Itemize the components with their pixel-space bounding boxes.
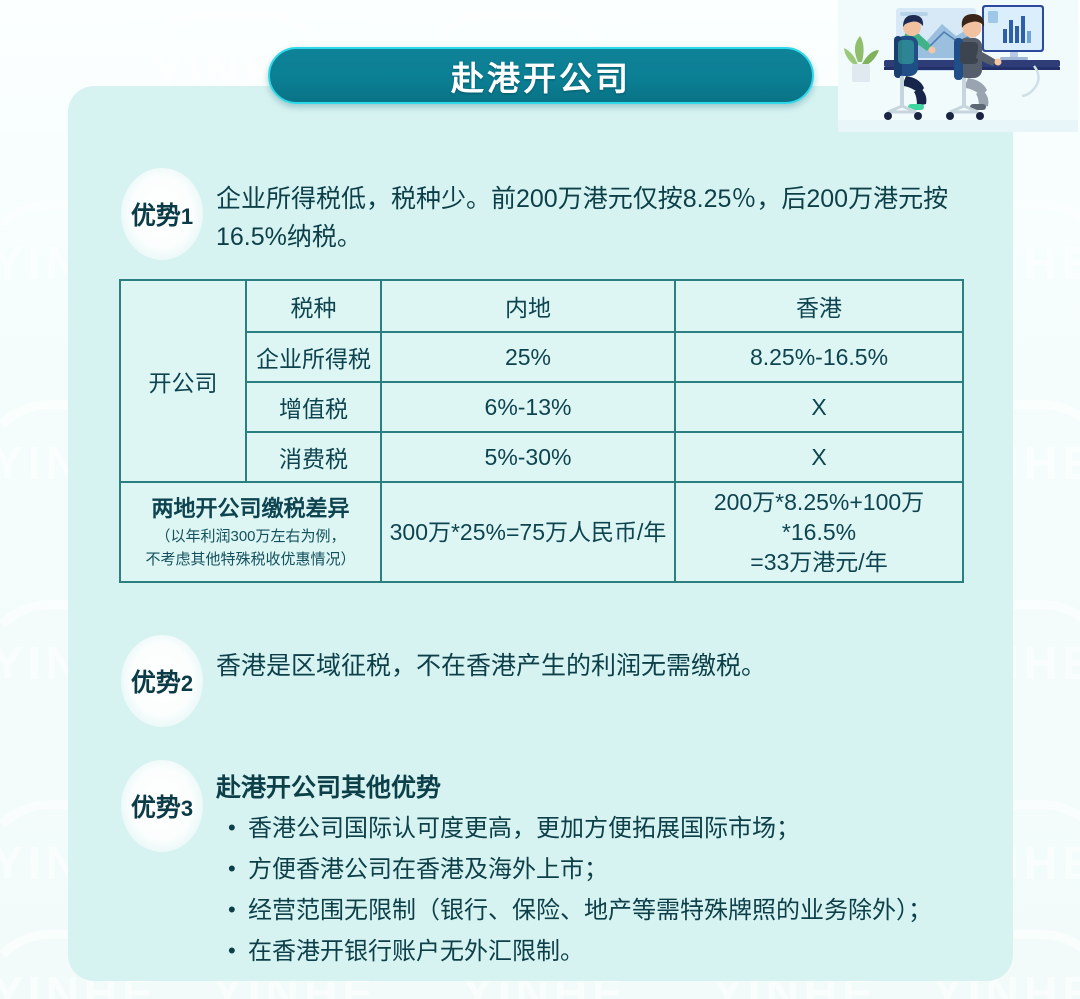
table-row: 企业所得税 25% 8.25%-16.5%: [120, 332, 963, 382]
table-cell-mainland: 25%: [381, 332, 675, 382]
table-cell-tax-type: 增值税: [246, 382, 381, 432]
table-diff-note-line2: 不考虑其他特殊税收优惠情况）: [127, 549, 374, 570]
header-illustration: [838, 0, 1078, 132]
table-diff-hongkong-calc-cell: 200万*8.25%+100万*16.5% =33万港元/年: [675, 482, 963, 582]
advantage-badge-word-3: 优势: [131, 794, 181, 822]
table-diff-label-cell: 两地开公司缴税差异 （以年利润300万左右为例， 不考虑其他特殊税收优惠情况）: [120, 482, 381, 582]
tax-comparison-table: 开公司 税种 内地 香港 企业所得税 25% 8.25%-16.5% 增值税 6…: [119, 279, 964, 583]
table-cell-tax-type: 消费税: [246, 432, 381, 482]
table-diff-note-line1: （以年利润300万左右为例，: [127, 526, 374, 547]
table-cell-tax-type: 企业所得税: [246, 332, 381, 382]
table-row: 增值税 6%-13% X: [120, 382, 963, 432]
infographic-root: YINHE YINHE YINHE YINHE YINHE YINHE YINH…: [0, 0, 1080, 999]
list-item: 在香港开银行账户无外汇限制。: [228, 931, 988, 972]
advantage-badge-number-3: 3: [181, 796, 193, 821]
advantage-badge-number-1: 1: [181, 204, 193, 229]
advantage-badge-3: 优势3: [116, 760, 208, 852]
table-diff-label: 两地开公司缴税差异: [127, 494, 374, 524]
page-title: 赴港开公司: [268, 47, 814, 104]
table-header-mainland: 内地: [381, 280, 675, 332]
list-item: 方便香港公司在香港及海外上市；: [228, 849, 988, 890]
page-title-text: 赴港开公司: [451, 52, 631, 100]
advantage-badge-word-2: 优势: [131, 669, 181, 697]
table-group-label: 开公司: [120, 280, 246, 482]
table-cell-hongkong: X: [675, 382, 963, 432]
table-row: 开公司 税种 内地 香港: [120, 280, 963, 332]
advantage-3-title: 赴港开公司其他优势: [216, 768, 441, 804]
advantage-badge-2: 优势2: [116, 635, 208, 727]
advantage-badge-label-2: 优势2: [131, 663, 193, 699]
table-row: 消费税 5%-30% X: [120, 432, 963, 482]
table-diff-hongkong-calc-line2: =33万港元/年: [682, 547, 956, 577]
content-layer: 优势1 企业所得税低，税种少。前200万港元仅按8.25％，后200万港元按16…: [0, 0, 1080, 999]
table-header-tax-type: 税种: [246, 280, 381, 332]
advantage-badge-label-1: 优势1: [131, 196, 193, 232]
table-diff-hongkong-calc-line1: 200万*8.25%+100万*16.5%: [682, 487, 956, 547]
table-cell-mainland: 6%-13%: [381, 382, 675, 432]
table-cell-hongkong: 8.25%-16.5%: [675, 332, 963, 382]
advantage-badge-word-1: 优势: [131, 202, 181, 230]
table-header-hongkong: 香港: [675, 280, 963, 332]
advantage-badge-label-3: 优势3: [131, 788, 193, 824]
list-item: 经营范围无限制（银行、保险、地产等需特殊牌照的业务除外）；: [228, 890, 988, 931]
advantage-badge-number-2: 2: [181, 671, 193, 696]
table-row: 两地开公司缴税差异 （以年利润300万左右为例， 不考虑其他特殊税收优惠情况） …: [120, 482, 963, 582]
table-diff-mainland-calc: 300万*25%=75万人民币/年: [381, 482, 675, 582]
advantage-3-bullet-list: 香港公司国际认可度更高，更加方便拓展国际市场； 方便香港公司在香港及海外上市； …: [228, 808, 988, 972]
advantage-text-2: 香港是区域征税，不在香港产生的利润无需缴税。: [216, 647, 956, 685]
table-cell-mainland: 5%-30%: [381, 432, 675, 482]
advantage-text-1: 企业所得税低，税种少。前200万港元仅按8.25％，后200万港元按16.5%纳…: [216, 180, 956, 256]
table-cell-hongkong: X: [675, 432, 963, 482]
advantage-badge-1: 优势1: [116, 168, 208, 260]
list-item: 香港公司国际认可度更高，更加方便拓展国际市场；: [228, 808, 988, 849]
